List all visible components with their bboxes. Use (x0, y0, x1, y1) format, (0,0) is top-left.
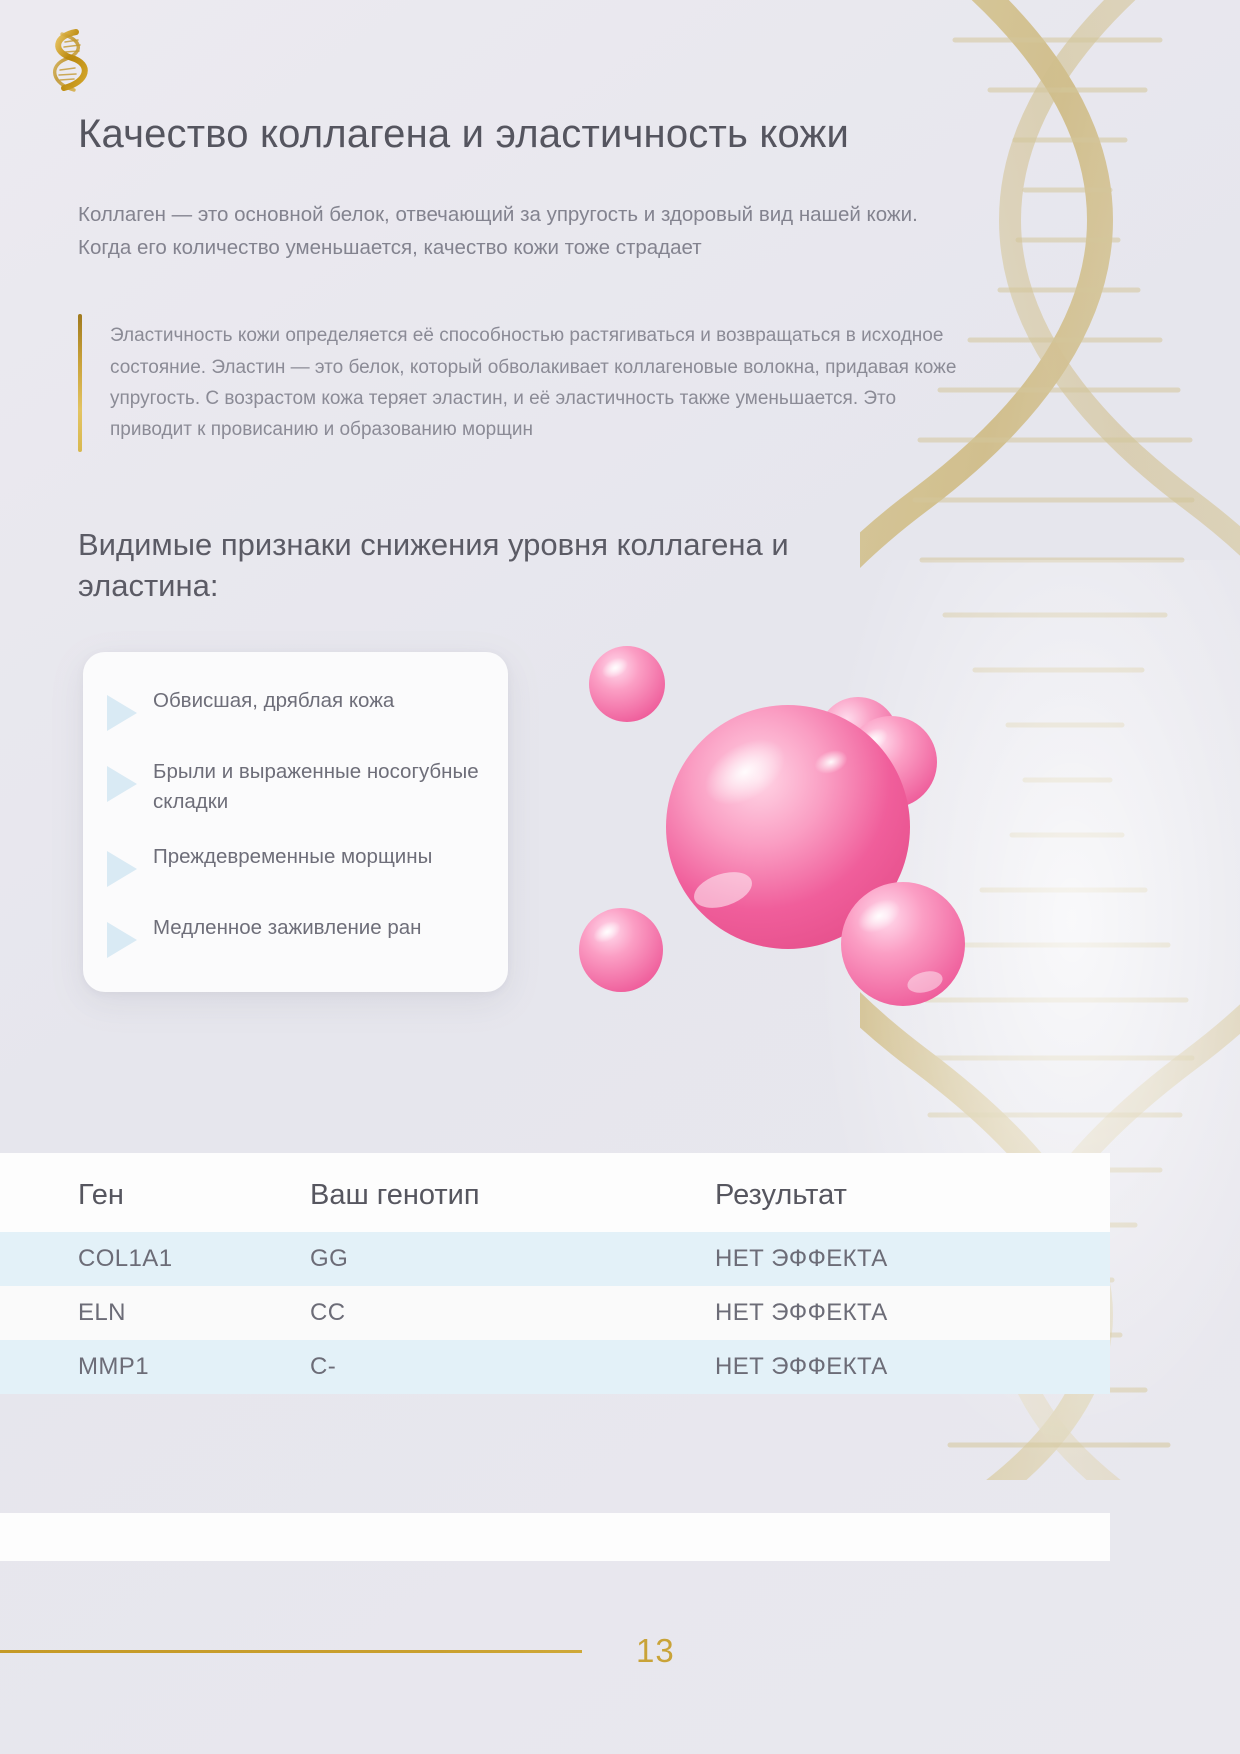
triangle-right-icon (107, 851, 137, 887)
table-row: COL1A1 GG НЕТ ЭФФЕКТА (0, 1232, 1110, 1286)
cell-gene: MMP1 (0, 1340, 310, 1394)
list-item-label: Преждевременные морщины (153, 842, 432, 872)
document-page: Качество коллагена и эластичность кожи К… (0, 0, 1240, 1754)
triangle-right-icon (107, 695, 137, 731)
list-item: Брыли и выраженные носогубные складки (107, 757, 480, 816)
dna-helix-icon (38, 26, 100, 98)
signs-card: Обвисшая, дряблая кожа Брыли и выраженны… (83, 652, 508, 992)
table-row: MMP1 C- НЕТ ЭФФЕКТА (0, 1340, 1110, 1394)
cell-result: НЕТ ЭФФЕКТА (715, 1232, 1110, 1286)
cell-result: НЕТ ЭФФЕКТА (715, 1286, 1110, 1340)
list-item-label: Обвисшая, дряблая кожа (153, 686, 394, 716)
list-item: Медленное заживление ран (107, 913, 480, 958)
page-number: 13 (636, 1632, 696, 1670)
table-header-row: Ген Ваш генотип Результат (0, 1153, 1110, 1232)
cell-result: НЕТ ЭФФЕКТА (715, 1340, 1110, 1394)
list-item-label: Медленное заживление ран (153, 913, 421, 943)
list-item: Обвисшая, дряблая кожа (107, 686, 480, 731)
gene-results-table-section: Ген Ваш генотип Результат COL1A1 GG НЕТ … (0, 1153, 1110, 1394)
cell-genotype: GG (310, 1232, 715, 1286)
list-item: Преждевременные морщины (107, 842, 480, 887)
list-item-label: Брыли и выраженные носогубные складки (153, 757, 480, 816)
column-header-gene: Ген (0, 1153, 310, 1232)
cell-genotype: CC (310, 1286, 715, 1340)
main-content: Качество коллагена и эластичность кожи К… (78, 110, 978, 1072)
highlight-quote-block: Эластичность кожи определяется её способ… (78, 314, 958, 451)
gene-results-table: Ген Ваш генотип Результат COL1A1 GG НЕТ … (0, 1153, 1110, 1394)
signs-section: Обвисшая, дряблая кожа Брыли и выраженны… (78, 652, 978, 1072)
page-footer: 13 (0, 1632, 1110, 1670)
signs-list: Обвисшая, дряблая кожа Брыли и выраженны… (107, 686, 480, 958)
page-title: Качество коллагена и эластичность кожи (78, 110, 978, 158)
column-header-genotype: Ваш генотип (310, 1153, 715, 1232)
cell-gene: ELN (0, 1286, 310, 1340)
table-bottom-spacer (0, 1513, 1110, 1561)
table-header: Ген Ваш генотип Результат (0, 1153, 1110, 1232)
footer-rule (0, 1650, 582, 1653)
table-row: ELN CC НЕТ ЭФФЕКТА (0, 1286, 1110, 1340)
triangle-right-icon (107, 766, 137, 802)
quote-text: Эластичность кожи определяется её способ… (110, 320, 958, 445)
section-heading-signs: Видимые признаки снижения уровня коллаге… (78, 524, 838, 606)
column-header-result: Результат (715, 1153, 1110, 1232)
cell-genotype: C- (310, 1340, 715, 1394)
cell-gene: COL1A1 (0, 1232, 310, 1286)
intro-paragraph: Коллаген — это основной белок, отвечающи… (78, 198, 968, 264)
table-body: COL1A1 GG НЕТ ЭФФЕКТА ELN CC НЕТ ЭФФЕКТА… (0, 1232, 1110, 1394)
pink-collagen-bubbles-illustration (573, 622, 1093, 1072)
triangle-right-icon (107, 922, 137, 958)
